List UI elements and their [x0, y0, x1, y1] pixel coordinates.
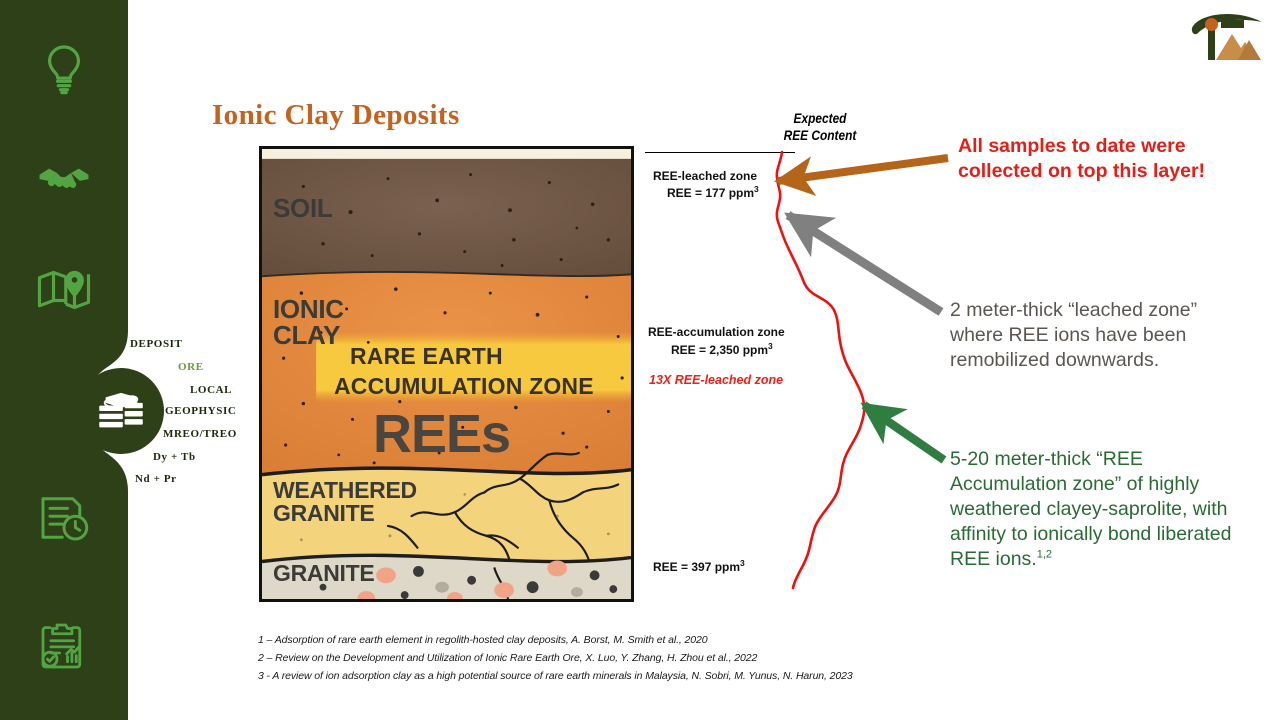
callout-green-sup: 1,2 — [1037, 548, 1052, 560]
deposit-label-geophysic: GEOPHYSIC — [165, 405, 236, 417]
expected-ree-caption: Expected REE Content — [769, 110, 871, 144]
callout-gray-text: 2 meter-thick “leached zone” where REE i… — [950, 298, 1240, 373]
soil-profile-diagram: SOIL IONIC CLAY RARE EARTH ACCUMULATION … — [259, 146, 634, 602]
brown-arrow — [778, 158, 948, 181]
accumulation-zone-value-text: REE = 2,350 ppm — [671, 343, 768, 357]
deposit-label-dy-tb: Dy + Tb — [153, 451, 196, 463]
cash-stack-icon — [78, 368, 164, 454]
expected-caption-line-1: Expected — [769, 110, 871, 127]
ree-content-curve — [777, 152, 864, 588]
deposit-label-ore: ORE — [178, 361, 204, 373]
footnote-3: 3 - A review of ion adsorption clay as a… — [258, 667, 853, 685]
lightbulb-icon[interactable] — [36, 40, 92, 96]
leached-zone-value-text: REE = 177 ppm — [667, 186, 754, 200]
multiplier-note: 13X REE-leached zone — [649, 372, 783, 389]
footnote-1: 1 – Adsorption of rare earth element in … — [258, 631, 853, 649]
deposit-label-local: LOCAL — [190, 384, 232, 396]
accumulation-zone-value: REE = 2,350 ppm3 — [671, 341, 773, 358]
granite-value: REE = 397 ppm3 — [653, 558, 745, 575]
deposit-label-deposit: DEPOSIT — [130, 338, 183, 350]
slide-canvas: DEPOSIT ORE LOCAL GEOPHYSIC MREO/TREO Dy… — [0, 0, 1280, 720]
green-arrow — [864, 405, 944, 460]
leached-zone-value: REE = 177 ppm3 — [667, 184, 759, 201]
footnote-2: 2 – Review on the Development and Utiliz… — [258, 649, 853, 667]
expected-ree-axis-rule — [645, 152, 795, 153]
handshake-icon[interactable] — [36, 152, 92, 208]
expected-caption-line-2: REE Content — [769, 127, 871, 144]
callout-green-text: 5-20 meter-thick “REE Accumulation zone”… — [950, 447, 1260, 572]
deposit-label-mreo-treo: MREO/TREO — [163, 428, 237, 440]
callout-green-body: 5-20 meter-thick “REE Accumulation zone”… — [950, 448, 1231, 570]
leached-zone-sup: 3 — [754, 184, 759, 194]
granite-value-text: REE = 397 ppm — [653, 560, 740, 574]
accumulation-zone-sup: 3 — [768, 341, 773, 351]
deposit-label-nd-pr: Nd + Pr — [135, 473, 177, 485]
gray-arrow — [788, 215, 941, 312]
clipboard-chart-icon[interactable] — [36, 618, 92, 674]
document-clock-icon[interactable] — [36, 490, 92, 546]
page-title: Ionic Clay Deposits — [212, 99, 460, 132]
granite-sup: 3 — [740, 558, 745, 568]
callout-red-text: All samples to date were collected on to… — [958, 134, 1258, 184]
sidebar-panel — [0, 0, 200, 720]
map-pin-icon[interactable] — [36, 262, 92, 318]
accumulation-zone-name: REE-accumulation zone — [648, 324, 785, 340]
mining-company-logo — [1186, 6, 1270, 64]
leached-zone-name: REE-leached zone — [653, 168, 757, 184]
footnotes: 1 – Adsorption of rare earth element in … — [258, 631, 853, 685]
